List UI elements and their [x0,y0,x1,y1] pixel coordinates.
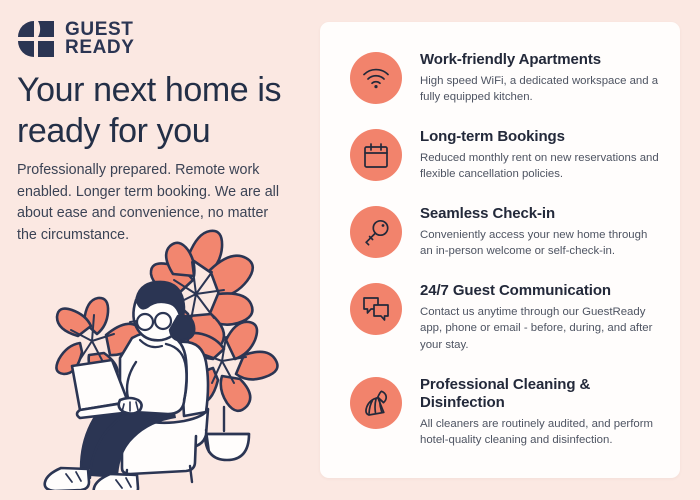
feature-item-guest-communication[interactable]: 24/7 Guest Communication Contact us anyt… [350,281,662,352]
key-icon [350,206,402,258]
page-title: Your next home is ready for you [17,70,307,153]
features-list: Work-friendly Apartments High speed WiFi… [320,22,680,449]
chat-bubbles-icon [350,283,402,335]
feature-description: All cleaners are routinely audited, and … [420,416,662,448]
feature-description: Reduced monthly rent on new reservations… [420,150,662,182]
feature-item-work-friendly-apartments[interactable]: Work-friendly Apartments High speed WiFi… [350,50,662,105]
feature-title: Long-term Bookings [420,128,662,147]
brand-wordmark: GUEST READY [65,21,135,57]
brand-wordmark-line2: READY [65,39,135,57]
person-with-laptop-and-plants-illustration [28,222,303,490]
hero-column: GUEST READY Your next home is ready for … [0,0,312,500]
marketing-page: GUEST READY Your next home is ready for … [0,0,700,500]
feature-item-long-term-bookings[interactable]: Long-term Bookings Reduced monthly rent … [350,127,662,182]
wifi-icon [350,52,402,104]
feature-title: Work-friendly Apartments [420,51,662,70]
feature-body: Long-term Bookings Reduced monthly rent … [420,127,662,182]
feature-description: High speed WiFi, a dedicated workspace a… [420,73,662,105]
feature-title: 24/7 Guest Communication [420,282,662,301]
feature-item-professional-cleaning[interactable]: Professional Cleaning & Disinfection All… [350,375,662,449]
calendar-icon [350,129,402,181]
feature-body: Work-friendly Apartments High speed WiFi… [420,50,662,105]
features-card: Work-friendly Apartments High speed WiFi… [320,22,680,478]
feature-title: Seamless Check-in [420,205,662,224]
feature-description: Contact us anytime through our GuestRead… [420,304,662,353]
broom-icon [350,377,402,429]
feature-item-seamless-check-in[interactable]: Seamless Check-in Conveniently access yo… [350,204,662,259]
feature-title: Professional Cleaning & Disinfection [420,376,662,414]
feature-body: Professional Cleaning & Disinfection All… [420,375,662,449]
guestready-quadrant-logo-icon [17,20,55,58]
feature-description: Conveniently access your new home throug… [420,227,662,259]
brand-logo[interactable]: GUEST READY [17,20,135,58]
feature-body: Seamless Check-in Conveniently access yo… [420,204,662,259]
feature-body: 24/7 Guest Communication Contact us anyt… [420,281,662,352]
